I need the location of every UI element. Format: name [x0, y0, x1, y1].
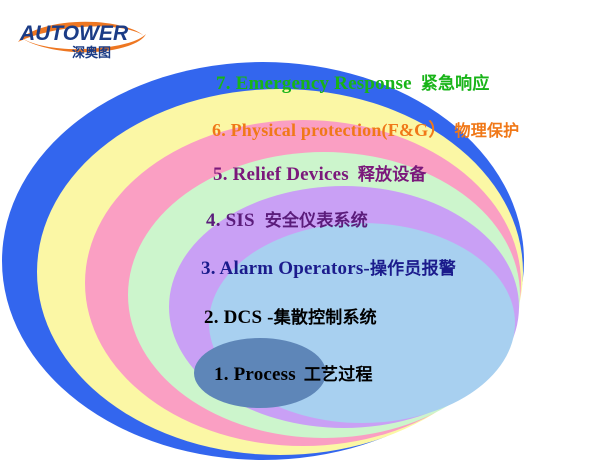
layer-3-zh: 操作员报警 — [370, 259, 456, 279]
layer-2-zh: 集散控制系统 — [274, 308, 377, 328]
layer-label-process: 1. Process工艺过程 — [214, 365, 373, 384]
layer-1-en: 1. Process — [214, 364, 296, 385]
layers-of-protection-diagram: 7. Emergency Response紧急响应 6. Physical pr… — [0, 0, 600, 464]
layer-label-dcs: 2. DCS -集散控制系统 — [204, 308, 377, 327]
layer-label-relief-devices: 5. Relief Devices释放设备 — [213, 165, 427, 184]
layer-label-physical-protection: 6. Physical protection(F&G）物理保护 — [212, 121, 519, 139]
layer-7-en: 7. Emergency Response — [216, 73, 412, 94]
layer-7-zh: 紧急响应 — [421, 74, 490, 94]
layer-6-zh: 物理保护 — [455, 121, 520, 140]
concentric-ellipses — [0, 0, 600, 464]
layer-5-en: 5. Relief Devices — [213, 164, 349, 185]
layer-1-zh: 工艺过程 — [304, 365, 373, 385]
layer-4-zh: 安全仪表系统 — [265, 211, 368, 231]
layer-label-alarm-operators: 3. Alarm Operators-操作员报警 — [201, 259, 456, 278]
layer-3-en: 3. Alarm Operators- — [201, 258, 370, 279]
layer-label-emergency-response: 7. Emergency Response紧急响应 — [216, 74, 490, 93]
layer-2-en: 2. DCS - — [204, 307, 274, 328]
layer-4-en: 4. SIS — [206, 210, 255, 231]
layer-label-sis: 4. SIS安全仪表系统 — [206, 211, 368, 230]
layer-6-en: 6. Physical protection(F&G） — [212, 120, 447, 140]
layer-5-zh: 释放设备 — [358, 165, 427, 185]
